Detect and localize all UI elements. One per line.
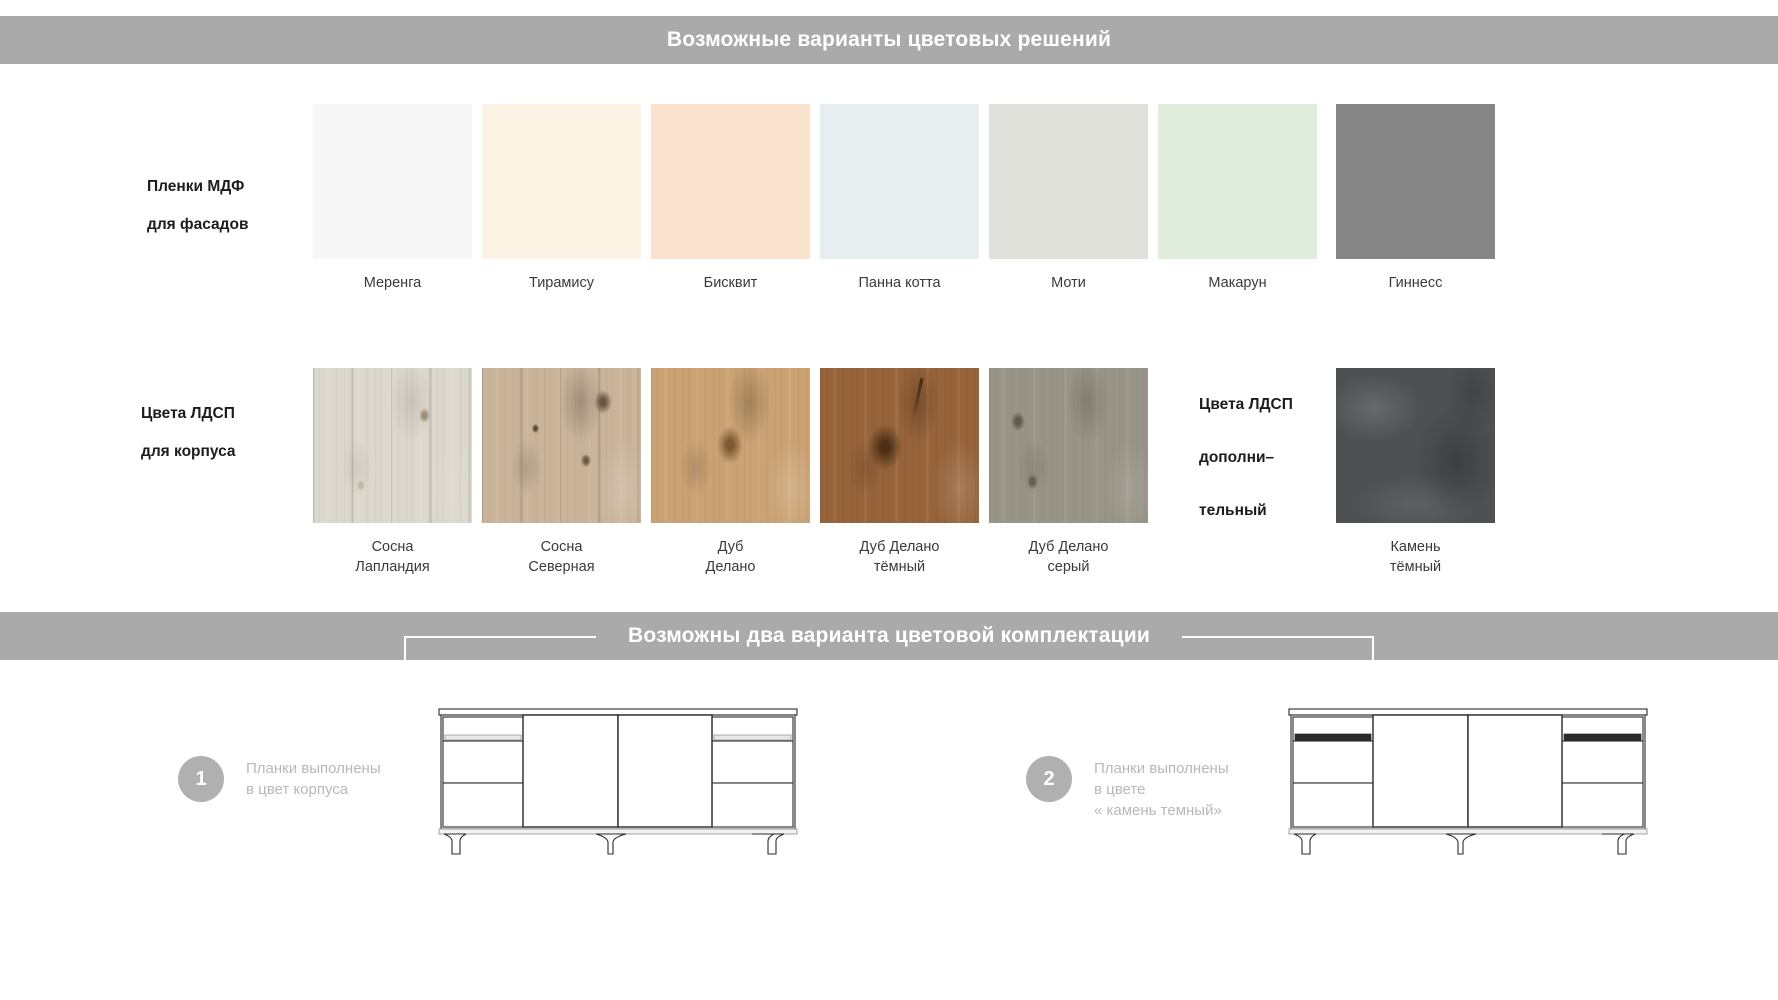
swatch-caption-kamen-temny: Камень тёмный [1336, 537, 1495, 577]
swatch-ginness[interactable] [1336, 104, 1495, 259]
swatch-moti[interactable] [989, 104, 1148, 259]
swatch-cell-merenga[interactable]: Меренга [313, 104, 472, 293]
middle-banner: Возможны два варианта цветовой комплекта… [0, 612, 1778, 660]
wood-knot-icon [594, 390, 612, 414]
stone-texture [1336, 368, 1495, 523]
swatch-cell-dub-delano[interactable]: Дуб Делано [651, 368, 810, 577]
swatch-caption-biskvit: Бисквит [651, 273, 810, 293]
swatch-cell-sosna-laplandiya[interactable]: Сосна Лапландия [313, 368, 472, 577]
swatch-cell-moti[interactable]: Моти [989, 104, 1148, 293]
sideboard-drawing-option-1 [420, 695, 800, 860]
swatch-merenga[interactable] [313, 104, 472, 259]
mdf-section-label: Пленки МДФ для фасадов [147, 168, 248, 244]
wood-knot-icon [717, 426, 743, 464]
option-2-badge: 2 [1026, 756, 1072, 802]
swatch-caption-makarun: Макарун [1158, 273, 1317, 293]
banner-bracket-left [404, 636, 596, 660]
swatch-sosna-laplandiya[interactable] [313, 368, 472, 523]
swatch-cell-dub-delano-dark[interactable]: Дуб Делано тёмный [820, 368, 979, 577]
dark-strip-right [1564, 734, 1641, 741]
swatch-caption-merenga: Меренга [313, 273, 472, 293]
swatch-caption-dub-delano-gray: Дуб Делано серый [989, 537, 1148, 577]
top-banner-title: Возможные варианты цветовых решений [667, 28, 1111, 52]
swatch-makarun[interactable] [1158, 104, 1317, 259]
ldsp-extra-label: Цвета ЛДСП дополни– тельный [1199, 378, 1293, 537]
sideboard-drawing-option-2 [1270, 695, 1650, 860]
option-1-text: Планки выполнены в цвет корпуса [246, 756, 381, 800]
option-2-text: Планки выполнены в цвете « камень темный… [1094, 756, 1229, 821]
wood-blotch-texture [989, 368, 1148, 523]
wood-knot-icon [1027, 474, 1038, 489]
wood-knot-icon [532, 424, 539, 433]
sideboard-svg-2 [1270, 695, 1650, 855]
swatch-sosna-severnaya[interactable] [482, 368, 641, 523]
wood-knot-icon [581, 454, 591, 467]
wood-blotch-texture [313, 368, 472, 523]
option-1-badge: 1 [178, 756, 224, 802]
swatch-tiramisu[interactable] [482, 104, 641, 259]
wood-knot-icon [357, 480, 365, 491]
ldsp-section-label: Цвета ЛДСП для корпуса [141, 395, 236, 471]
swatch-dub-delano-dark[interactable] [820, 368, 979, 523]
top-banner: Возможные варианты цветовых решений [0, 16, 1778, 64]
swatch-caption-panna-kotta: Панна котта [820, 273, 979, 293]
swatch-cell-biskvit[interactable]: Бисквит [651, 104, 810, 293]
swatch-caption-dub-delano: Дуб Делано [651, 537, 810, 577]
sideboard-svg-1 [420, 695, 800, 855]
wood-blotch-texture [482, 368, 641, 523]
swatch-cell-kamen-temny[interactable]: Камень тёмный [1336, 368, 1495, 577]
swatch-caption-tiramisu: Тирамису [482, 273, 641, 293]
swatch-cell-dub-delano-gray[interactable]: Дуб Делано серый [989, 368, 1148, 577]
option-2[interactable]: 2 Планки выполнены в цвете « камень темн… [1026, 756, 1229, 821]
swatch-caption-dub-delano-dark: Дуб Делано тёмный [820, 537, 979, 577]
wood-knot-icon [868, 424, 902, 470]
dark-strip-left [1295, 734, 1371, 741]
swatch-caption-sosna-laplandiya: Сосна Лапландия [313, 537, 472, 577]
swatch-kamen-temny[interactable] [1336, 368, 1495, 523]
swatch-cell-sosna-severnaya[interactable]: Сосна Северная [482, 368, 641, 577]
swatch-caption-ginness: Гиннесс [1336, 273, 1495, 293]
swatch-cell-makarun[interactable]: Макарун [1158, 104, 1317, 293]
swatch-dub-delano-gray[interactable] [989, 368, 1148, 523]
swatch-dub-delano[interactable] [651, 368, 810, 523]
swatch-biskvit[interactable] [651, 104, 810, 259]
wood-knot-icon [419, 408, 430, 423]
swatch-caption-sosna-severnaya: Сосна Северная [482, 537, 641, 577]
swatch-caption-moti: Моти [989, 273, 1148, 293]
swatch-cell-tiramisu[interactable]: Тирамису [482, 104, 641, 293]
middle-banner-title: Возможны два варианта цветовой комплекта… [610, 624, 1168, 648]
swatch-cell-ginness[interactable]: Гиннесс [1336, 104, 1495, 293]
banner-bracket-right [1182, 636, 1374, 660]
swatch-cell-panna-kotta[interactable]: Панна котта [820, 104, 979, 293]
wood-knot-icon [1011, 412, 1025, 431]
option-1[interactable]: 1 Планки выполнены в цвет корпуса [178, 756, 381, 802]
swatch-panna-kotta[interactable] [820, 104, 979, 259]
